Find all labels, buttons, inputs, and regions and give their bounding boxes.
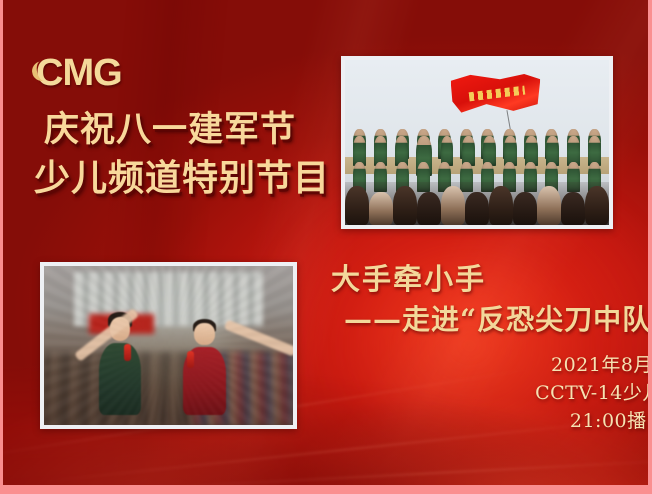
photo-troops-audience: [345, 182, 609, 225]
soldier: [483, 136, 496, 166]
soldier: [588, 136, 601, 166]
audience-head: [537, 186, 561, 225]
audience-head: [585, 186, 609, 225]
flag-inscription: [468, 86, 524, 102]
audience-head: [393, 186, 417, 225]
headline-block: 庆祝八一建军节 少儿频道特别节目: [44, 106, 344, 204]
audience-head: [417, 192, 441, 225]
broadcast-time: 21:00播出: [0, 406, 652, 433]
audience-head: [441, 186, 465, 225]
audience-head: [561, 192, 585, 225]
edge-strip-right: [648, 0, 652, 494]
soldier: [441, 136, 454, 166]
audience-head: [513, 192, 537, 225]
soldier: [374, 136, 387, 166]
audience-head: [489, 186, 513, 225]
edge-strip-left: [0, 0, 3, 494]
soldier: [395, 136, 408, 166]
audience-head: [369, 192, 393, 225]
headline-line-1: 庆祝八一建军节: [44, 106, 344, 154]
edge-strip-bottom: [0, 485, 652, 494]
broadcast-date: 2021年8月2日: [0, 350, 652, 377]
soldier: [567, 136, 580, 166]
audience-head: [465, 192, 489, 225]
photo-troops: [341, 56, 613, 229]
poster-canvas: CMG 庆祝八一建军节 少儿频道特别节目: [0, 0, 652, 494]
program-title: 大手牵小手: [331, 256, 486, 298]
headline-line-2: 少儿频道特别节目: [34, 154, 344, 204]
soldier: [504, 136, 517, 166]
soldier: [546, 136, 559, 166]
broadcast-channel: CCTV-14少儿频道: [0, 378, 652, 405]
photo-troops-inner: [345, 60, 609, 225]
audience-head: [345, 186, 369, 225]
soldier: [353, 136, 366, 166]
program-subtitle: ——走进“反恐尖刀中队”: [344, 298, 652, 338]
soldier: [462, 136, 475, 166]
cmg-logo: CMG: [36, 52, 122, 95]
soldier: [525, 136, 538, 166]
